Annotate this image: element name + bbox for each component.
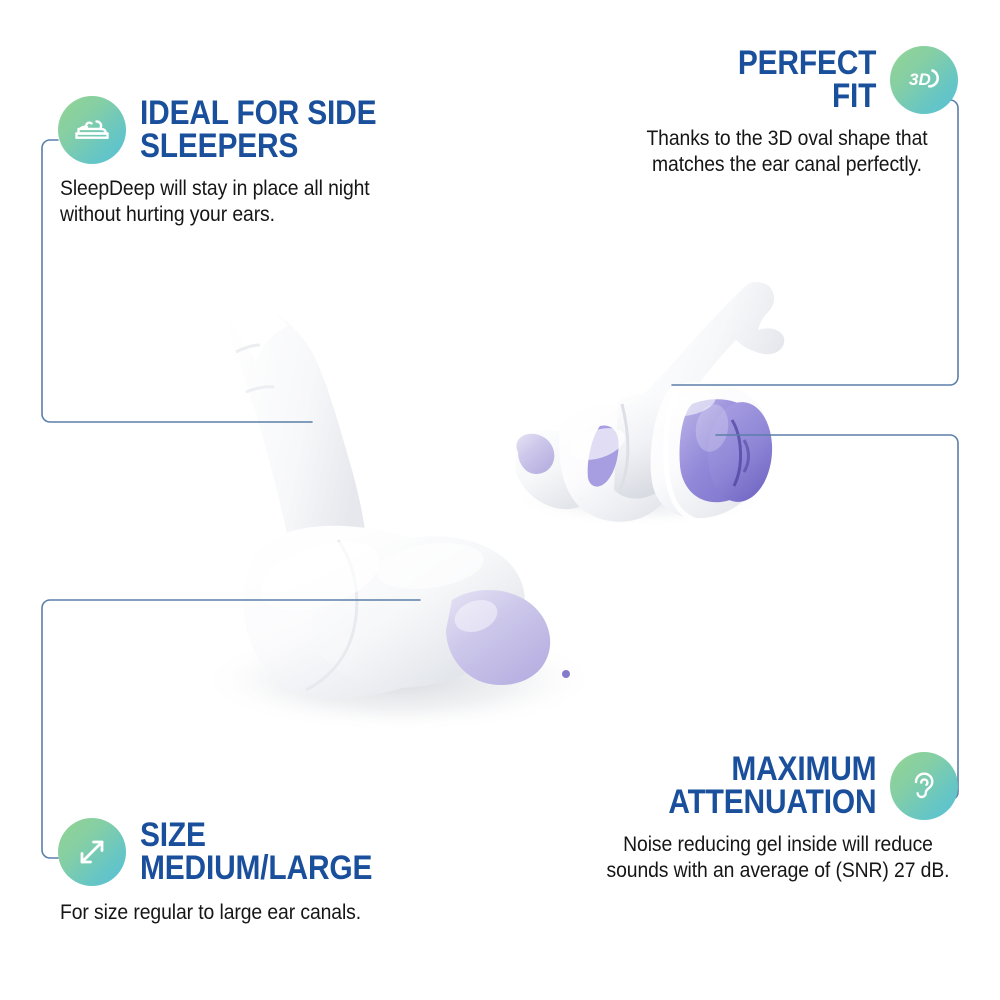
feature-body: For size regular to large ear canals. [60,899,445,925]
feature-head: IDEAL FOR SIDE SLEEPERS [58,96,488,164]
feature-body: SleepDeep will stay in place all night w… [60,175,445,227]
resize-diagonal-arrow-icon [58,818,126,886]
feature-head: MAXIMUM ATTENUATION [558,752,958,820]
feature-head: SIZE MEDIUM/LARGE [58,818,488,886]
feature-block-side-sleepers: IDEAL FOR SIDE SLEEPERS SleepDeep will s… [58,96,488,227]
feature-title: IDEAL FOR SIDE SLEEPERS [140,97,376,163]
tip-vent-dot [562,670,570,678]
feature-block-size: SIZE MEDIUM/LARGE For size regular to la… [58,818,488,925]
feature-body: Noise reducing gel inside will reduce so… [598,831,958,883]
feature-block-perfect-fit: 3D PERFECT FIT Thanks to the 3D oval sha… [578,46,958,177]
feature-title: MAXIMUM ATTENUATION [668,753,876,819]
infographic-canvas: IDEAL FOR SIDE SLEEPERS SleepDeep will s… [0,0,1000,1000]
3d-icon-label: 3D [909,70,931,89]
sleeping-person-bed-icon [58,96,126,164]
feature-body: Thanks to the 3D oval shape that matches… [616,125,958,177]
feature-title: SIZE MEDIUM/LARGE [140,819,372,885]
3d-shape-icon: 3D [890,46,958,114]
feature-head: 3D PERFECT FIT [578,46,958,114]
feature-title: PERFECT FIT [738,47,876,113]
feature-block-attenuation: MAXIMUM ATTENUATION Noise reducing gel i… [558,752,958,883]
small-earplug-render [516,282,784,523]
ear-icon [890,752,958,820]
